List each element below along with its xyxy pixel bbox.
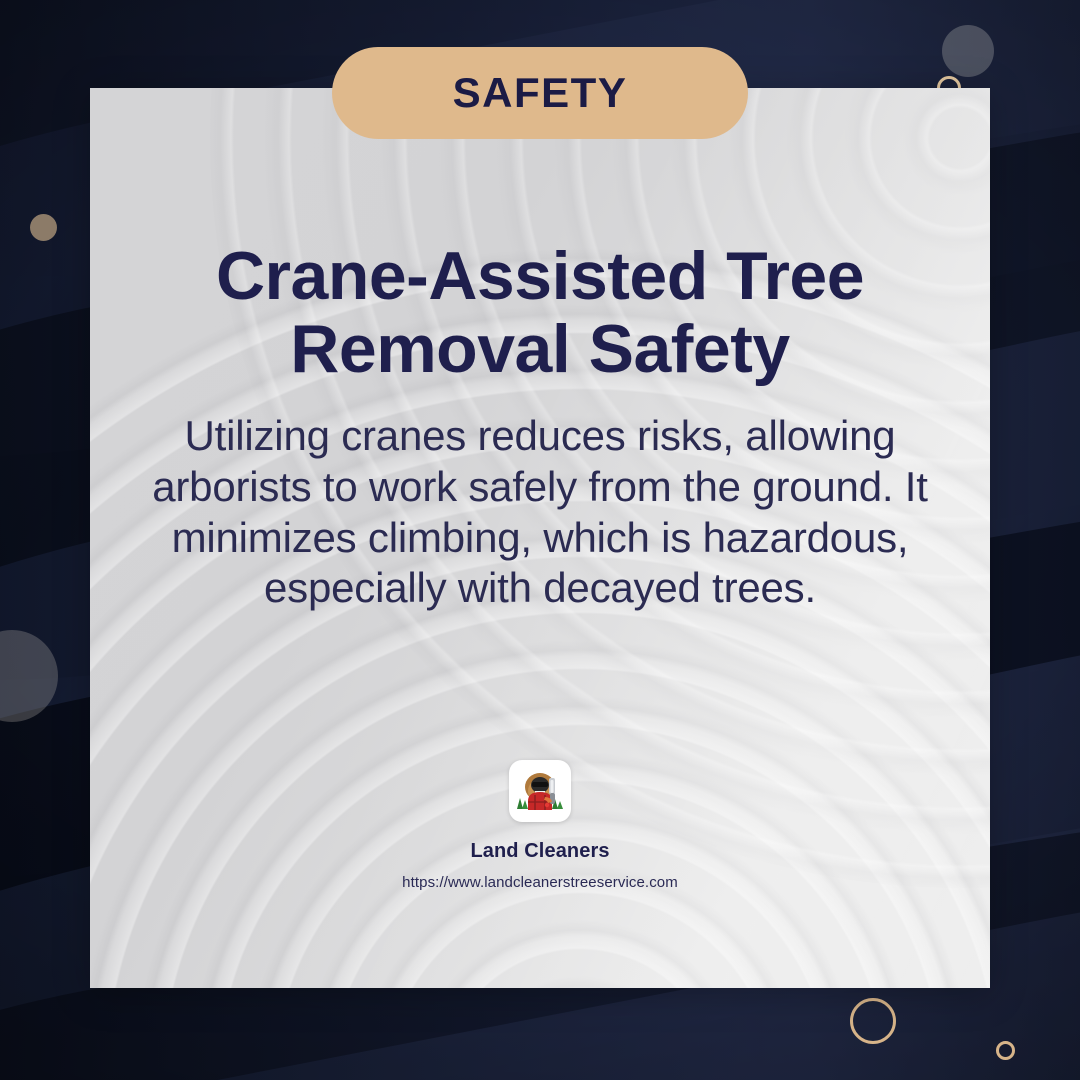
page-title: Crane-Assisted Tree Removal Safety [134, 240, 946, 387]
body-paragraph: Utilizing cranes reduces risks, allowing… [150, 411, 930, 614]
category-badge: SAFETY [332, 47, 748, 139]
category-badge-label: SAFETY [453, 69, 628, 117]
lumberjack-mascot-logo-icon [514, 765, 566, 817]
brand-name: Land Cleaners [470, 840, 609, 863]
social-post-poster: Crane-Assisted Tree Removal Safety Utili… [0, 0, 1080, 1080]
brand-url[interactable]: https://www.landcleanerstreeservice.com [402, 874, 678, 891]
content-card: Crane-Assisted Tree Removal Safety Utili… [90, 88, 990, 988]
card-footer: Land Cleaners https://www.landcleanerstr… [90, 760, 990, 891]
brand-logo-tile [509, 760, 571, 822]
